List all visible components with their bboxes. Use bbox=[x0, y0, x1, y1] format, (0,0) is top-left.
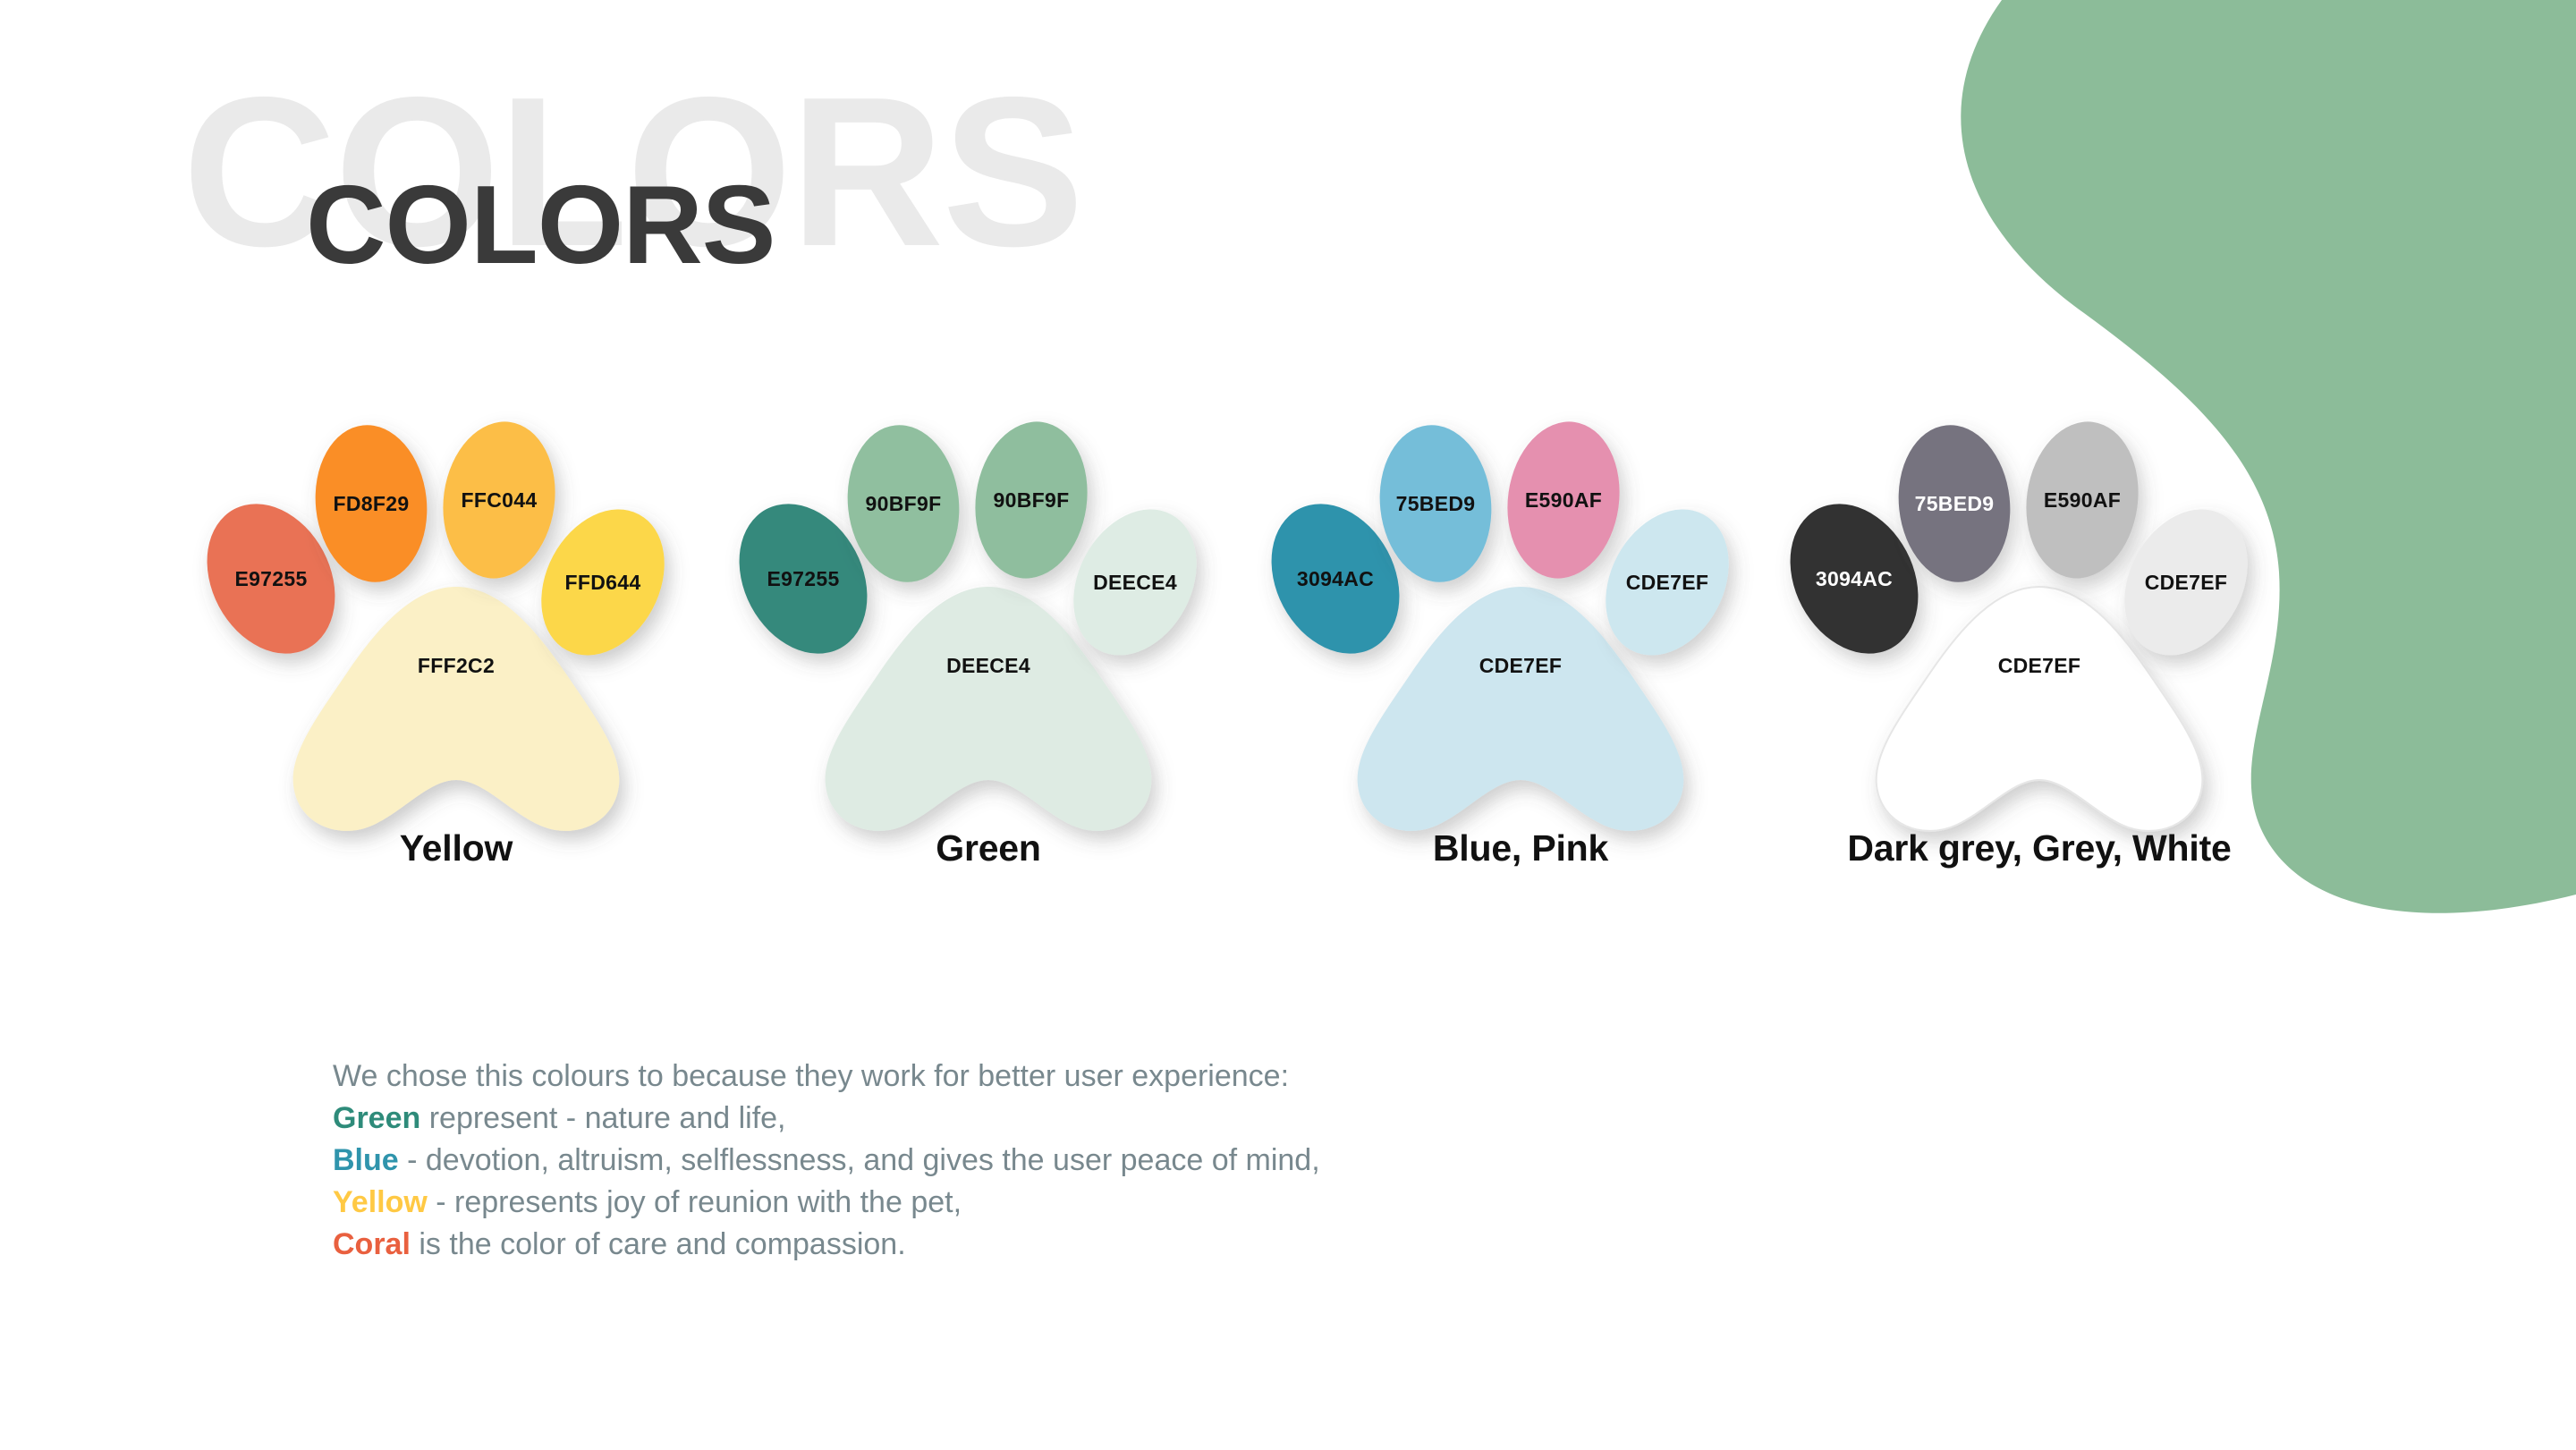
rationale-coral-rest: is the color of care and compassion. bbox=[411, 1227, 906, 1261]
paw-toe-inner-left-label: 90BF9F bbox=[866, 492, 942, 515]
palette-greyscale[interactable]: CDE7EF 3094AC 75BED9 E590AF bbox=[1762, 420, 2317, 921]
palette-name: Green bbox=[711, 827, 1266, 869]
paw-graphic: CDE7EF 3094AC 75BED9 E590AF bbox=[1762, 420, 2317, 814]
paw-toe-outer-left-label: 3094AC bbox=[1297, 567, 1374, 590]
paw-pad-label: CDE7EF bbox=[1998, 654, 2081, 677]
paw-toe-outer-right-label: DEECE4 bbox=[1093, 571, 1177, 594]
rationale-blue-rest: - devotion, altruism, selflessness, and … bbox=[399, 1143, 1320, 1177]
page-title-text: COLORS bbox=[306, 170, 775, 281]
keyword-coral: Coral bbox=[333, 1227, 411, 1261]
paw-toe-inner-right-label: E590AF bbox=[2044, 488, 2121, 512]
rationale-green-rest: represent - nature and life, bbox=[420, 1101, 785, 1135]
paw-graphic: FFF2C2 E97255 FD8F29 FFC044 bbox=[179, 420, 733, 814]
rationale-line-blue: Blue - devotion, altruism, selflessness,… bbox=[333, 1140, 1496, 1182]
rationale-intro: We chose this colours to because they wo… bbox=[333, 1056, 1496, 1098]
keyword-green: Green bbox=[333, 1101, 420, 1135]
paw-toe-inner-right-label: E590AF bbox=[1525, 488, 1602, 512]
palette-name: Blue, Pink bbox=[1243, 827, 1798, 869]
palette-name: Yellow bbox=[179, 827, 733, 869]
keyword-blue: Blue bbox=[333, 1143, 399, 1177]
paw-toe-outer-right-label: FFD644 bbox=[565, 571, 641, 594]
rationale-text-block: We chose this colours to because they wo… bbox=[333, 1056, 1496, 1266]
paw-pad-label: DEECE4 bbox=[946, 654, 1030, 677]
rationale-line-green: Green represent - nature and life, bbox=[333, 1098, 1496, 1140]
paw-toe-inner-left-label: 75BED9 bbox=[1396, 492, 1476, 515]
palette-green[interactable]: DEECE4 E97255 90BF9F 90BF9F bbox=[711, 420, 1266, 921]
paw-toe-inner-left-label: 75BED9 bbox=[1915, 492, 1995, 515]
paw-pad-label: CDE7EF bbox=[1479, 654, 1563, 677]
paw-toe-inner-left-label: FD8F29 bbox=[334, 492, 410, 515]
palette-row: FFF2C2 E97255 FD8F29 FFC044 bbox=[0, 420, 2576, 921]
paw-toe-inner-right-label: FFC044 bbox=[462, 488, 538, 512]
keyword-yellow: Yellow bbox=[333, 1185, 428, 1219]
paw-toe-outer-left-label: E97255 bbox=[234, 567, 307, 590]
paw-toe-outer-left-label: E97255 bbox=[767, 567, 839, 590]
paw-toe-outer-right-label: CDE7EF bbox=[2145, 571, 2228, 594]
paw-graphic: DEECE4 E97255 90BF9F 90BF9F bbox=[711, 420, 1266, 814]
paw-toe-outer-left-label: 3094AC bbox=[1816, 567, 1893, 590]
palette-yellow[interactable]: FFF2C2 E97255 FD8F29 FFC044 bbox=[179, 420, 733, 921]
palette-blue-pink[interactable]: CDE7EF 3094AC 75BED9 E590AF bbox=[1243, 420, 1798, 921]
rationale-yellow-rest: - represents joy of reunion with the pet… bbox=[428, 1185, 962, 1219]
page-title: COLORS COLORS bbox=[179, 72, 1342, 304]
rationale-line-yellow: Yellow - represents joy of reunion with … bbox=[333, 1182, 1496, 1224]
paw-pad-label: FFF2C2 bbox=[418, 654, 495, 677]
palette-name: Dark grey, Grey, White bbox=[1726, 827, 2352, 869]
paw-toe-inner-right-label: 90BF9F bbox=[994, 488, 1070, 512]
paw-graphic: CDE7EF 3094AC 75BED9 E590AF bbox=[1243, 420, 1798, 814]
paw-toe-outer-right-label: CDE7EF bbox=[1626, 571, 1709, 594]
slide-canvas: COLORS COLORS FFF2C2 bbox=[0, 0, 2576, 1450]
rationale-line-coral: Coral is the color of care and compassio… bbox=[333, 1224, 1496, 1266]
